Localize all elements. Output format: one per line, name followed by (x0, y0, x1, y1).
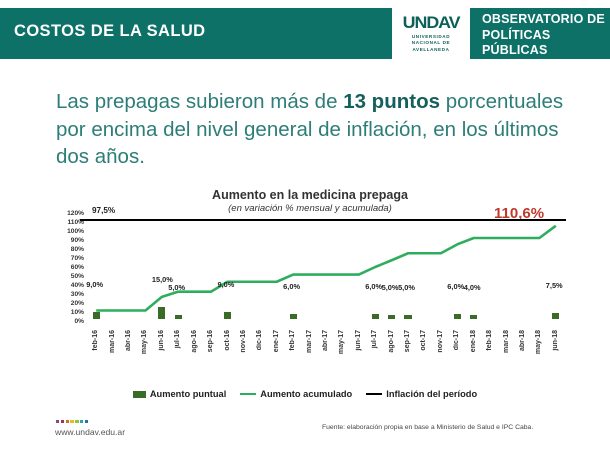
y-axis-tick: 50% (71, 274, 84, 281)
x-axis-tick: abr-16 (125, 330, 132, 351)
bar (224, 312, 231, 320)
x-axis-tick: ene-17 (273, 330, 280, 352)
bar (470, 315, 477, 319)
y-axis-tick: 100% (67, 229, 84, 236)
legend-label: Aumento acumulado (260, 389, 352, 399)
x-axis-tick: mar-18 (503, 330, 510, 353)
bar-value-label: 9,0% (86, 280, 103, 289)
y-axis-tick: 120% (67, 211, 84, 218)
undav-logo: UNDAV UNIVERSIDAD NACIONAL DE AVELLANEDA (392, 0, 470, 67)
legend-item: Aumento puntual (133, 389, 226, 399)
headline: Las prepagas subieron más de 13 puntos p… (56, 88, 576, 171)
x-axis-tick: feb-16 (92, 330, 99, 351)
bar (552, 313, 559, 319)
bar (93, 312, 100, 320)
x-axis-tick: jul-17 (371, 330, 378, 348)
bar (290, 314, 297, 319)
y-axis-tick: 20% (71, 301, 84, 308)
bar (175, 315, 182, 319)
bar-value-label: 6,0% (365, 282, 382, 291)
x-axis-tick: oct-16 (224, 330, 231, 351)
undav-logo-subtitle: UNIVERSIDAD NACIONAL DE AVELLANEDA (412, 34, 450, 54)
legend-item: Aumento acumulado (240, 389, 352, 399)
legend-line-icon (366, 393, 382, 396)
x-axis-tick: jun-17 (355, 330, 362, 351)
logo-sub-line-3: AVELLANEDA (412, 47, 450, 54)
website-url: www.undav.edu.ar (55, 427, 125, 437)
undav-logo-mark: UNDAV (403, 14, 460, 31)
plot-area: 97,5% 9,0%15,0%5,0%9,0%6,0%6,0%5,0%5,0%6… (88, 218, 564, 318)
bar-value-label: 5,0% (168, 283, 185, 292)
source-note: Fuente: elaboración propia en base a Min… (322, 424, 533, 431)
bar (158, 307, 165, 320)
observatory-label: OBSERVATORIO DE POLÍTICAS PÚBLICAS (482, 12, 606, 59)
legend-label: Inflación del período (386, 389, 477, 399)
page-title: COSTOS DE LA SALUD (14, 22, 205, 41)
brand-dot (66, 420, 69, 423)
x-axis-tick: may-18 (535, 330, 542, 354)
bar-value-label: 4,0% (464, 283, 481, 292)
legend-item: Inflación del período (366, 389, 477, 399)
x-axis-tick: feb-18 (486, 330, 493, 351)
x-axis-tick: ago-16 (191, 330, 198, 353)
brand-dots (56, 420, 88, 423)
x-axis-tick: jun-16 (158, 330, 165, 351)
x-axis-tick: sep-16 (207, 330, 214, 352)
bar (372, 314, 379, 319)
bar-series: 9,0%15,0%5,0%9,0%6,0%6,0%5,0%5,0%6,0%4,0… (88, 297, 564, 319)
x-axis-tick: mar-16 (109, 330, 116, 353)
x-axis-tick: nov-16 (240, 330, 247, 353)
y-axis-tick: 90% (71, 238, 84, 245)
x-axis-tick: ago-17 (388, 330, 395, 353)
x-axis-tick: jun-18 (552, 330, 559, 351)
y-axis-tick: 10% (71, 310, 84, 317)
x-axis-tick: sep-17 (404, 330, 411, 352)
brand-dot (56, 420, 59, 423)
logo-sub-line-2: NACIONAL DE (412, 40, 450, 47)
brand-dot (70, 420, 73, 423)
y-axis-tick: 30% (71, 292, 84, 299)
observatory-line-2: POLÍTICAS PÚBLICAS (482, 28, 606, 59)
chart-legend: Aumento puntualAumento acumuladoInflació… (0, 386, 610, 402)
brand-dot (75, 420, 78, 423)
brand-dot (61, 420, 64, 423)
x-axis-tick: jul-16 (174, 330, 181, 348)
x-axis-tick: abr-17 (322, 330, 329, 351)
bar (404, 315, 411, 319)
x-axis-tick: may-16 (141, 330, 148, 354)
x-axis-tick: abr-18 (519, 330, 526, 351)
y-axis-tick: 40% (71, 283, 84, 290)
x-axis-tick: feb-17 (289, 330, 296, 351)
legend-label: Aumento puntual (150, 389, 226, 399)
x-axis-tick: dic-16 (256, 330, 263, 350)
legend-bar-icon (133, 391, 146, 398)
bar-value-label: 5,0% (382, 283, 399, 292)
legend-line-icon (240, 393, 256, 396)
x-axis-tick: ene-18 (470, 330, 477, 352)
observatory-line-1: OBSERVATORIO DE (482, 12, 606, 28)
bar-value-label: 6,0% (447, 282, 464, 291)
x-axis-tick: may-17 (338, 330, 345, 354)
bar-value-label: 7,5% (546, 281, 563, 290)
brand-dot (85, 420, 88, 423)
y-axis: 120%110%100%90%80%70%60%50%40%30%20%10%0… (52, 214, 84, 322)
y-axis-tick: 80% (71, 247, 84, 254)
bar (454, 314, 461, 319)
y-axis-tick: 0% (74, 319, 84, 326)
headline-part-1: Las prepagas subieron más de (56, 90, 343, 113)
bar-value-label: 5,0% (398, 283, 415, 292)
x-axis: feb-16mar-16abr-16may-16jun-16jul-16ago-… (88, 330, 564, 378)
logo-sub-line-1: UNIVERSIDAD (412, 34, 450, 41)
y-axis-tick: 70% (71, 256, 84, 263)
bar-value-label: 6,0% (283, 282, 300, 291)
bar-value-label: 9,0% (218, 280, 235, 289)
bar (388, 315, 395, 319)
y-axis-tick: 60% (71, 265, 84, 272)
x-axis-tick: nov-17 (437, 330, 444, 353)
x-axis-tick: dic-17 (453, 330, 460, 350)
x-axis-tick: mar-17 (306, 330, 313, 353)
x-axis-tick: oct-17 (420, 330, 427, 351)
headline-highlight: 13 puntos (343, 90, 440, 113)
brand-dot (80, 420, 83, 423)
chart: Aumento en la medicina prepaga (en varia… (0, 188, 610, 388)
accumulated-line (88, 200, 574, 340)
